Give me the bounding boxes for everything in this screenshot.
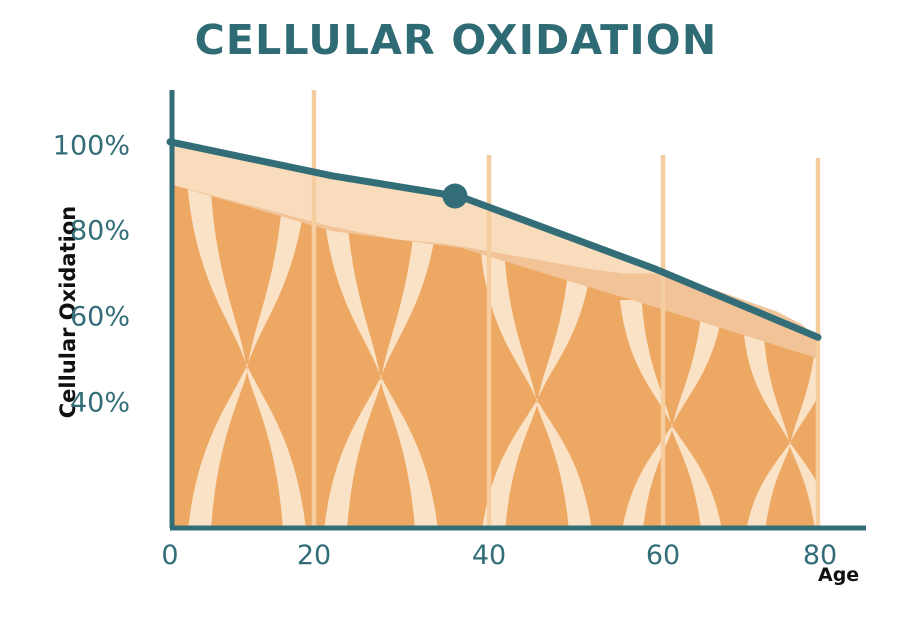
- plot-area: [0, 0, 912, 626]
- data-point-marker[interactable]: [443, 184, 468, 209]
- chart-container: CELLULAR OXIDATION Cellular Oxidation Ag…: [0, 0, 912, 626]
